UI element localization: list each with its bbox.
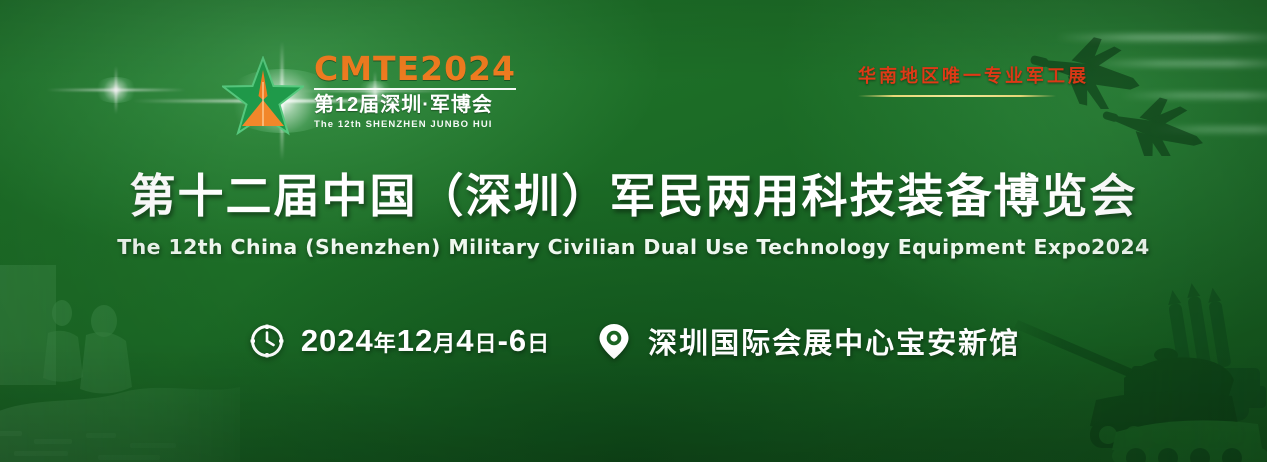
logo-text-block: CMTE2024 第12届深圳·军博会 The 12th SHENZHEN JU… — [314, 52, 516, 130]
logo-brand: CMTE2024 — [314, 52, 516, 85]
clock-icon — [247, 321, 287, 361]
date-month-unit: 月 — [433, 331, 456, 356]
contrail-streak — [1055, 34, 1267, 41]
flare-vertical-ray — [115, 66, 117, 114]
tank-and-missile-launcher-icon — [1004, 282, 1267, 462]
date-year: 2024 — [301, 323, 374, 358]
tagline: 华南地区唯一专业军工展 — [858, 62, 1089, 97]
logo-divider — [314, 88, 516, 90]
date-day-end: 6 — [509, 323, 527, 358]
map-pin-icon — [594, 321, 634, 361]
flare-core — [93, 77, 139, 103]
contrail-streak — [1150, 126, 1267, 133]
logo-english-name: The 12th SHENZHEN JUNBO HUI — [314, 119, 516, 130]
logo-chinese-name: 第12届深圳·军博会 — [314, 94, 516, 116]
date-month: 12 — [397, 323, 433, 358]
event-logo: CMTE2024 第12届深圳·军博会 The 12th SHENZHEN JU… — [222, 52, 516, 140]
date-day-start: 4 — [456, 323, 474, 358]
event-date-text: 2024年12月4日-6日 — [301, 323, 550, 359]
event-venue-text: 深圳国际会展中心宝安新馆 — [648, 320, 1020, 362]
date-day-end-unit: 日 — [527, 331, 550, 356]
date-year-unit: 年 — [374, 331, 397, 356]
expo-banner: CMTE2024 第12届深圳·军博会 The 12th SHENZHEN JU… — [0, 0, 1267, 462]
tagline-underline — [858, 95, 1056, 97]
event-venue: 深圳国际会展中心宝安新馆 — [594, 320, 1020, 362]
flare-horizontal-ray — [46, 89, 186, 91]
headline-block: 第十二届中国（深圳）军民两用科技装备博览会 The 12th China (Sh… — [0, 168, 1267, 259]
event-date: 2024年12月4日-6日 — [247, 321, 550, 361]
date-separator: - — [498, 323, 509, 358]
page-title: 第十二届中国（深圳）军民两用科技装备博览会 — [0, 168, 1267, 226]
light-flare-small — [46, 62, 186, 118]
event-info-row: 2024年12月4日-6日 深圳国际会展中心宝安新馆 — [0, 320, 1267, 362]
contrail-streak — [1120, 92, 1267, 99]
page-subtitle: The 12th China (Shenzhen) Military Civil… — [0, 235, 1267, 259]
date-day-unit: 日 — [475, 331, 498, 356]
tagline-text: 华南地区唯一专业军工展 — [858, 62, 1089, 88]
star-with-jet-icon — [222, 56, 304, 140]
contrail-streak — [1090, 60, 1267, 67]
